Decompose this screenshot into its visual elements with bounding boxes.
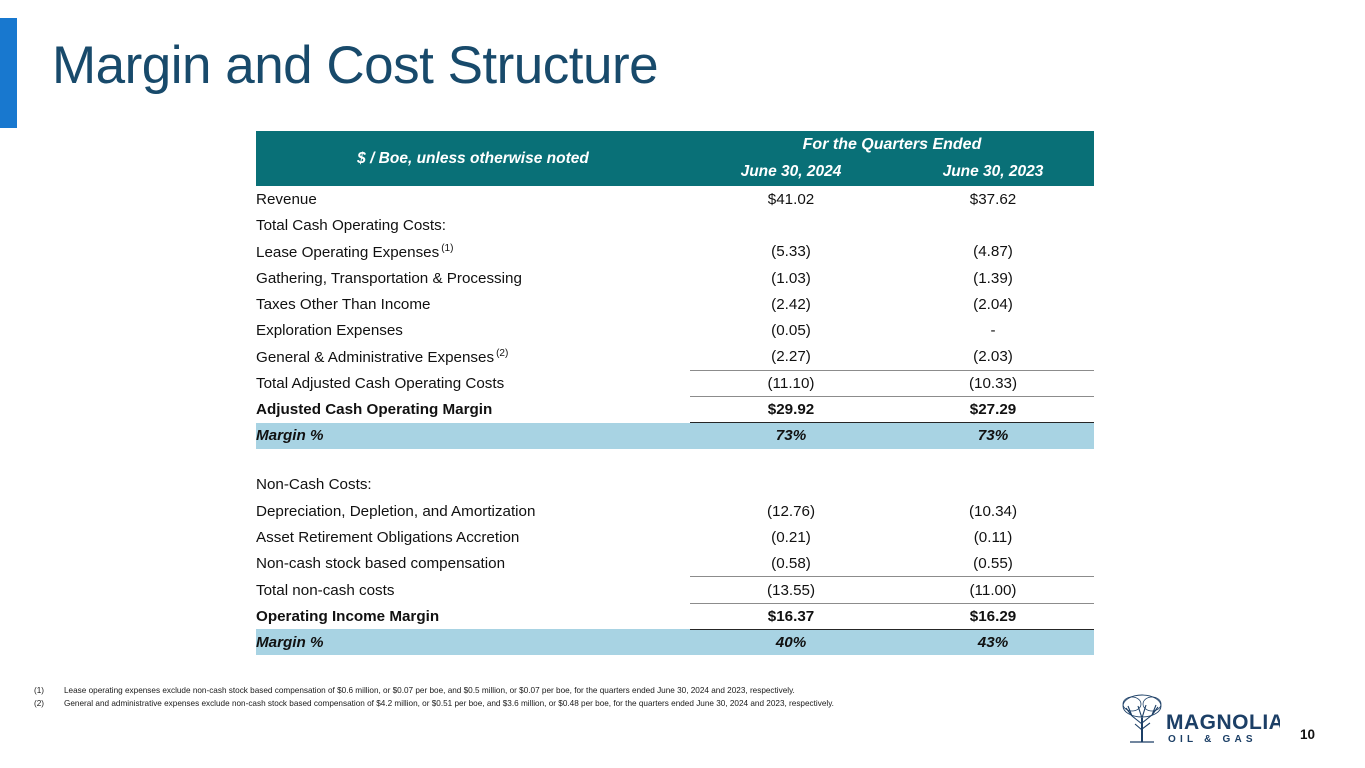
logo-tagline: OIL & GAS — [1168, 734, 1257, 745]
row-value-q2: (0.11) — [892, 524, 1094, 550]
row-label: Total Cash Operating Costs: — [256, 212, 690, 238]
table-row: Exploration Expenses(0.05)- — [256, 317, 1094, 343]
row-value-q1: (0.05) — [690, 317, 892, 343]
row-value-q2: - — [892, 317, 1094, 343]
table-row: Non-cash stock based compensation(0.58)(… — [256, 551, 1094, 577]
row-value-q2: (11.00) — [892, 577, 1094, 603]
table-spacer-row — [256, 449, 1094, 472]
table-row: Lease Operating Expenses(1)(5.33)(4.87) — [256, 239, 1094, 265]
row-value-q1: (5.33) — [690, 239, 892, 265]
row-value-q2: (10.34) — [892, 498, 1094, 524]
row-value-q2: 43% — [892, 629, 1094, 655]
footnotes: (1)Lease operating expenses exclude non-… — [34, 684, 834, 711]
row-label: Asset Retirement Obligations Accretion — [256, 524, 690, 550]
table-row: Total Adjusted Cash Operating Costs(11.1… — [256, 370, 1094, 396]
table-row: Operating Income Margin$16.37$16.29 — [256, 603, 1094, 629]
row-label: General & Administrative Expenses(2) — [256, 344, 690, 370]
row-value-q1: 40% — [690, 629, 892, 655]
row-value-q2 — [892, 472, 1094, 498]
row-label: Total non-cash costs — [256, 577, 690, 603]
row-value-q1 — [690, 212, 892, 238]
table-header-row-top: $ / Boe, unless otherwise noted For the … — [256, 131, 1094, 158]
row-label: Depreciation, Depletion, and Amortizatio… — [256, 498, 690, 524]
row-value-q1: $29.92 — [690, 396, 892, 422]
table-row: Total Cash Operating Costs: — [256, 212, 1094, 238]
footnote-text: General and administrative expenses excl… — [64, 697, 834, 710]
table-row: Non-Cash Costs: — [256, 472, 1094, 498]
row-label: Lease Operating Expenses(1) — [256, 239, 690, 265]
table-header: $ / Boe, unless otherwise noted For the … — [256, 131, 1094, 186]
row-value-q1: 73% — [690, 423, 892, 449]
row-label: Non-Cash Costs: — [256, 472, 690, 498]
table-row: Total non-cash costs(13.55)(11.00) — [256, 577, 1094, 603]
row-value-q2: (10.33) — [892, 370, 1094, 396]
spacer-cell — [256, 449, 1094, 472]
footnote-text: Lease operating expenses exclude non-cas… — [64, 684, 795, 697]
row-value-q1: (1.03) — [690, 265, 892, 291]
row-value-q2: $37.62 — [892, 186, 1094, 212]
row-label: Adjusted Cash Operating Margin — [256, 396, 690, 422]
row-value-q1: (0.21) — [690, 524, 892, 550]
row-label: Total Adjusted Cash Operating Costs — [256, 370, 690, 396]
row-value-q2: $16.29 — [892, 603, 1094, 629]
row-value-q2: (2.04) — [892, 291, 1094, 317]
page-title: Margin and Cost Structure — [52, 38, 658, 94]
row-label: Exploration Expenses — [256, 317, 690, 343]
footnote-row: (2)General and administrative expenses e… — [34, 697, 834, 710]
title-accent-bar — [0, 18, 17, 128]
row-label: Margin % — [256, 629, 690, 655]
column-header-q1: June 30, 2024 — [690, 158, 892, 186]
column-group-header: For the Quarters Ended — [690, 131, 1094, 158]
table-row: Depreciation, Depletion, and Amortizatio… — [256, 498, 1094, 524]
row-value-q2: (1.39) — [892, 265, 1094, 291]
table-row: Margin %73%73% — [256, 423, 1094, 449]
footnote-mark: (2) — [34, 697, 64, 710]
row-value-q2: $27.29 — [892, 396, 1094, 422]
table-row: Gathering, Transportation & Processing(1… — [256, 265, 1094, 291]
footnote-row: (1)Lease operating expenses exclude non-… — [34, 684, 834, 697]
row-value-q2 — [892, 212, 1094, 238]
row-label: Taxes Other Than Income — [256, 291, 690, 317]
row-value-q1: (2.27) — [690, 344, 892, 370]
table-row: Taxes Other Than Income(2.42)(2.04) — [256, 291, 1094, 317]
row-value-q2: 73% — [892, 423, 1094, 449]
row-value-q1: $41.02 — [690, 186, 892, 212]
row-label: Revenue — [256, 186, 690, 212]
row-label: Non-cash stock based compensation — [256, 551, 690, 577]
row-value-q1: (0.58) — [690, 551, 892, 577]
logo-wordmark: MAGNOLIA — [1166, 711, 1280, 734]
table-body: Revenue$41.02$37.62Total Cash Operating … — [256, 186, 1094, 655]
footnote-marker: (2) — [494, 348, 508, 359]
row-label: Gathering, Transportation & Processing — [256, 265, 690, 291]
tree-icon — [1123, 695, 1161, 742]
row-value-q2: (4.87) — [892, 239, 1094, 265]
row-value-q1: (12.76) — [690, 498, 892, 524]
table-row: Revenue$41.02$37.62 — [256, 186, 1094, 212]
row-value-q1: (13.55) — [690, 577, 892, 603]
row-label: Operating Income Margin — [256, 603, 690, 629]
column-header-q2: June 30, 2023 — [892, 158, 1094, 186]
row-value-q1: (11.10) — [690, 370, 892, 396]
row-value-q1: (2.42) — [690, 291, 892, 317]
row-value-q1 — [690, 472, 892, 498]
row-value-q2: (2.03) — [892, 344, 1094, 370]
financial-table: $ / Boe, unless otherwise noted For the … — [256, 131, 1094, 655]
table-row: General & Administrative Expenses(2)(2.2… — [256, 344, 1094, 370]
page-number: 10 — [1300, 727, 1315, 742]
table-row: Margin %40%43% — [256, 629, 1094, 655]
footnote-mark: (1) — [34, 684, 64, 697]
table-row: Adjusted Cash Operating Margin$29.92$27.… — [256, 396, 1094, 422]
magnolia-logo-svg: MAGNOLIA OIL & GAS — [1108, 692, 1280, 750]
row-label: Margin % — [256, 423, 690, 449]
company-logo: MAGNOLIA OIL & GAS — [1108, 692, 1280, 750]
row-value-q2: (0.55) — [892, 551, 1094, 577]
footnote-marker: (1) — [439, 243, 453, 254]
table-row: Asset Retirement Obligations Accretion(0… — [256, 524, 1094, 550]
column-header-label: $ / Boe, unless otherwise noted — [256, 131, 690, 186]
row-value-q1: $16.37 — [690, 603, 892, 629]
